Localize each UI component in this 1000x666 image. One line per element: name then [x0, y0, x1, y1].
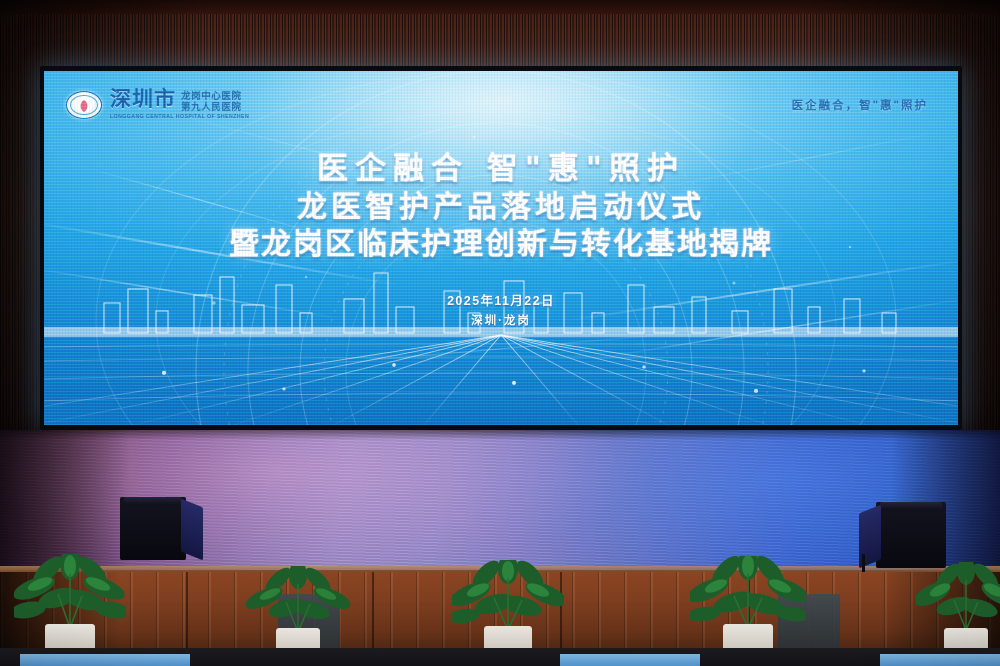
- hospital-logo-text: 深圳市龙岗中心医院第九人民医院 LONGGANG CENTRAL HOSPITA…: [110, 89, 249, 120]
- event-title-line-2: 龙医智护产品落地启动仪式: [44, 192, 958, 224]
- event-meta-block: 2025年11月22日 深圳·龙岗: [44, 290, 958, 328]
- emblem-ring: [70, 95, 98, 115]
- hospital-logo: 深圳市龙岗中心医院第九人民医院 LONGGANG CENTRAL HOSPITA…: [66, 89, 249, 120]
- event-title-line-1: 医企融合 智"惠"照护: [44, 153, 958, 186]
- stage-monitor-left: [120, 497, 186, 560]
- table-cloth-left: [20, 654, 190, 666]
- led-screen: 深圳市龙岗中心医院第九人民医院 LONGGANG CENTRAL HOSPITA…: [44, 71, 958, 425]
- stage-monitor-right: [876, 502, 946, 568]
- logo-hospital-line1: 龙岗中心医院: [181, 91, 242, 102]
- event-location: 深圳·龙岗: [44, 312, 958, 328]
- led-screen-bezel: 深圳市龙岗中心医院第九人民医院 LONGGANG CENTRAL HOSPITA…: [40, 66, 962, 430]
- hospital-emblem-icon: [66, 91, 102, 119]
- event-date: 2025年11月22日: [44, 290, 958, 309]
- plant-2-foliage: [246, 566, 350, 632]
- monitor-right-top: [880, 502, 942, 510]
- monitor-right-body: [876, 502, 946, 568]
- event-title-line-3: 暨龙岗区临床护理创新与转化基地揭牌: [44, 229, 958, 261]
- plant-3-foliage: [452, 560, 564, 630]
- screen-slogan-top-right: 医企融合，智"惠"照护: [792, 97, 928, 113]
- monitor-left-side: [181, 499, 203, 561]
- logo-english-name: LONGGANG CENTRAL HOSPITAL OF SHENZHEN: [110, 115, 249, 120]
- event-title-block: 医企融合 智"惠"照护 龙医智护产品落地启动仪式 暨龙岗区临床护理创新与转化基地…: [44, 153, 958, 261]
- plant-4-foliage: [690, 556, 806, 628]
- monitor-left-body: [120, 497, 186, 560]
- monitor-left-top: [124, 497, 182, 505]
- screen-content: 深圳市龙岗中心医院第九人民医院 LONGGANG CENTRAL HOSPITA…: [44, 71, 958, 425]
- logo-hospital-names: 龙岗中心医院第九人民医院: [181, 91, 242, 113]
- logo-hospital-line2: 第九人民医院: [181, 102, 242, 113]
- logo-city-name: 深圳市: [110, 87, 176, 111]
- table-cloth-right: [880, 654, 1000, 666]
- stage-shadow-left: [0, 430, 130, 570]
- stage-scene: 深圳市龙岗中心医院第九人民医院 LONGGANG CENTRAL HOSPITA…: [0, 0, 1000, 666]
- table-cloth-center: [560, 654, 700, 666]
- plant-1-foliage: [14, 554, 126, 628]
- plant-5-foliage: [916, 562, 1000, 630]
